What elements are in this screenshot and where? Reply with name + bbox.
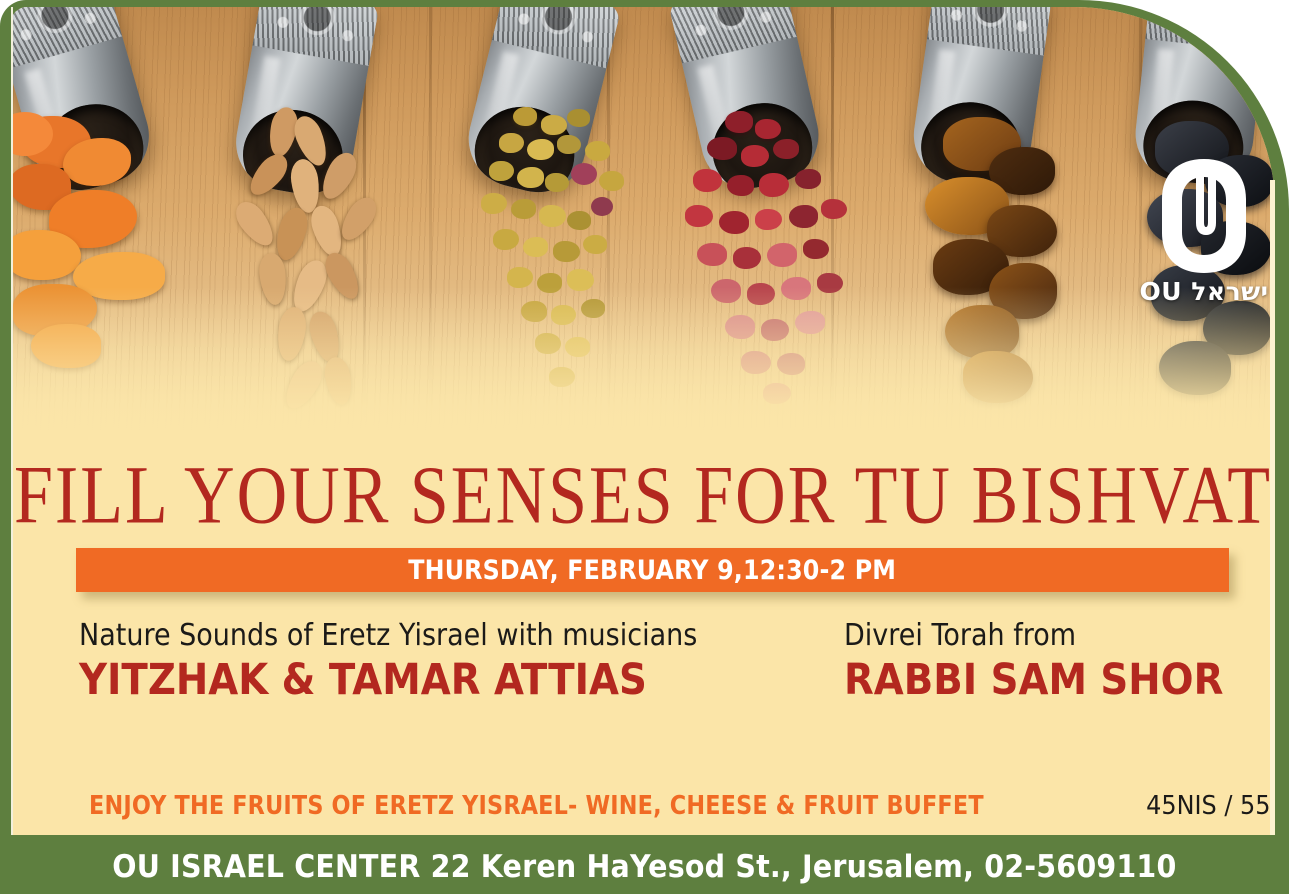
footer-bar: OU ISRAEL CENTER 22 Keren HaYesod St., J…	[0, 840, 1289, 894]
buffet-text: ENJOY THE FRUITS OF ERETZ YISRAEL- WINE,…	[89, 791, 984, 821]
flyer: OU ישראל FILL YOUR SENSES FOR TU BISHVAT…	[0, 0, 1289, 894]
music-intro-text: Nature Sounds of Eretz Yisrael with musi…	[79, 619, 768, 654]
torah-column: Divrei Torah from RABBI SAM SHOR	[844, 619, 1229, 703]
musicians-names: YITZHAK & TAMAR ATTIAS	[79, 658, 768, 703]
price-text: 45NIS / 55NIS	[1147, 791, 1275, 821]
buffet-section: ENJOY THE FRUITS OF ERETZ YISRAEL- WINE,…	[89, 791, 1249, 821]
dried-fruit-photo	[11, 7, 1275, 437]
venue-address-text: OU ISRAEL CENTER 22 Keren HaYesod St., J…	[112, 849, 1176, 885]
date-time-banner: THURSDAY, FEBRUARY 9,12:30-2 PM	[76, 548, 1229, 592]
flyer-canvas: OU ישראל FILL YOUR SENSES FOR TU BISHVAT…	[11, 7, 1275, 835]
ou-israel-logo: OU ישראל	[1129, 157, 1275, 306]
page-title: FILL YOUR SENSES FOR TU BISHVAT	[11, 455, 1275, 538]
speaker-name: RABBI SAM SHOR	[844, 658, 1191, 703]
torah-intro-text: Divrei Torah from	[844, 619, 1191, 654]
music-column: Nature Sounds of Eretz Yisrael with musi…	[79, 619, 844, 703]
photo-bottom-fade	[11, 287, 1275, 437]
date-time-text: THURSDAY, FEBRUARY 9,12:30-2 PM	[409, 555, 897, 586]
performers-section: Nature Sounds of Eretz Yisrael with musi…	[79, 619, 1229, 703]
ou-monogram-icon	[1150, 157, 1258, 275]
ou-logo-text: OU ישראל	[1129, 277, 1275, 306]
left-inner-hairline	[11, 7, 13, 835]
